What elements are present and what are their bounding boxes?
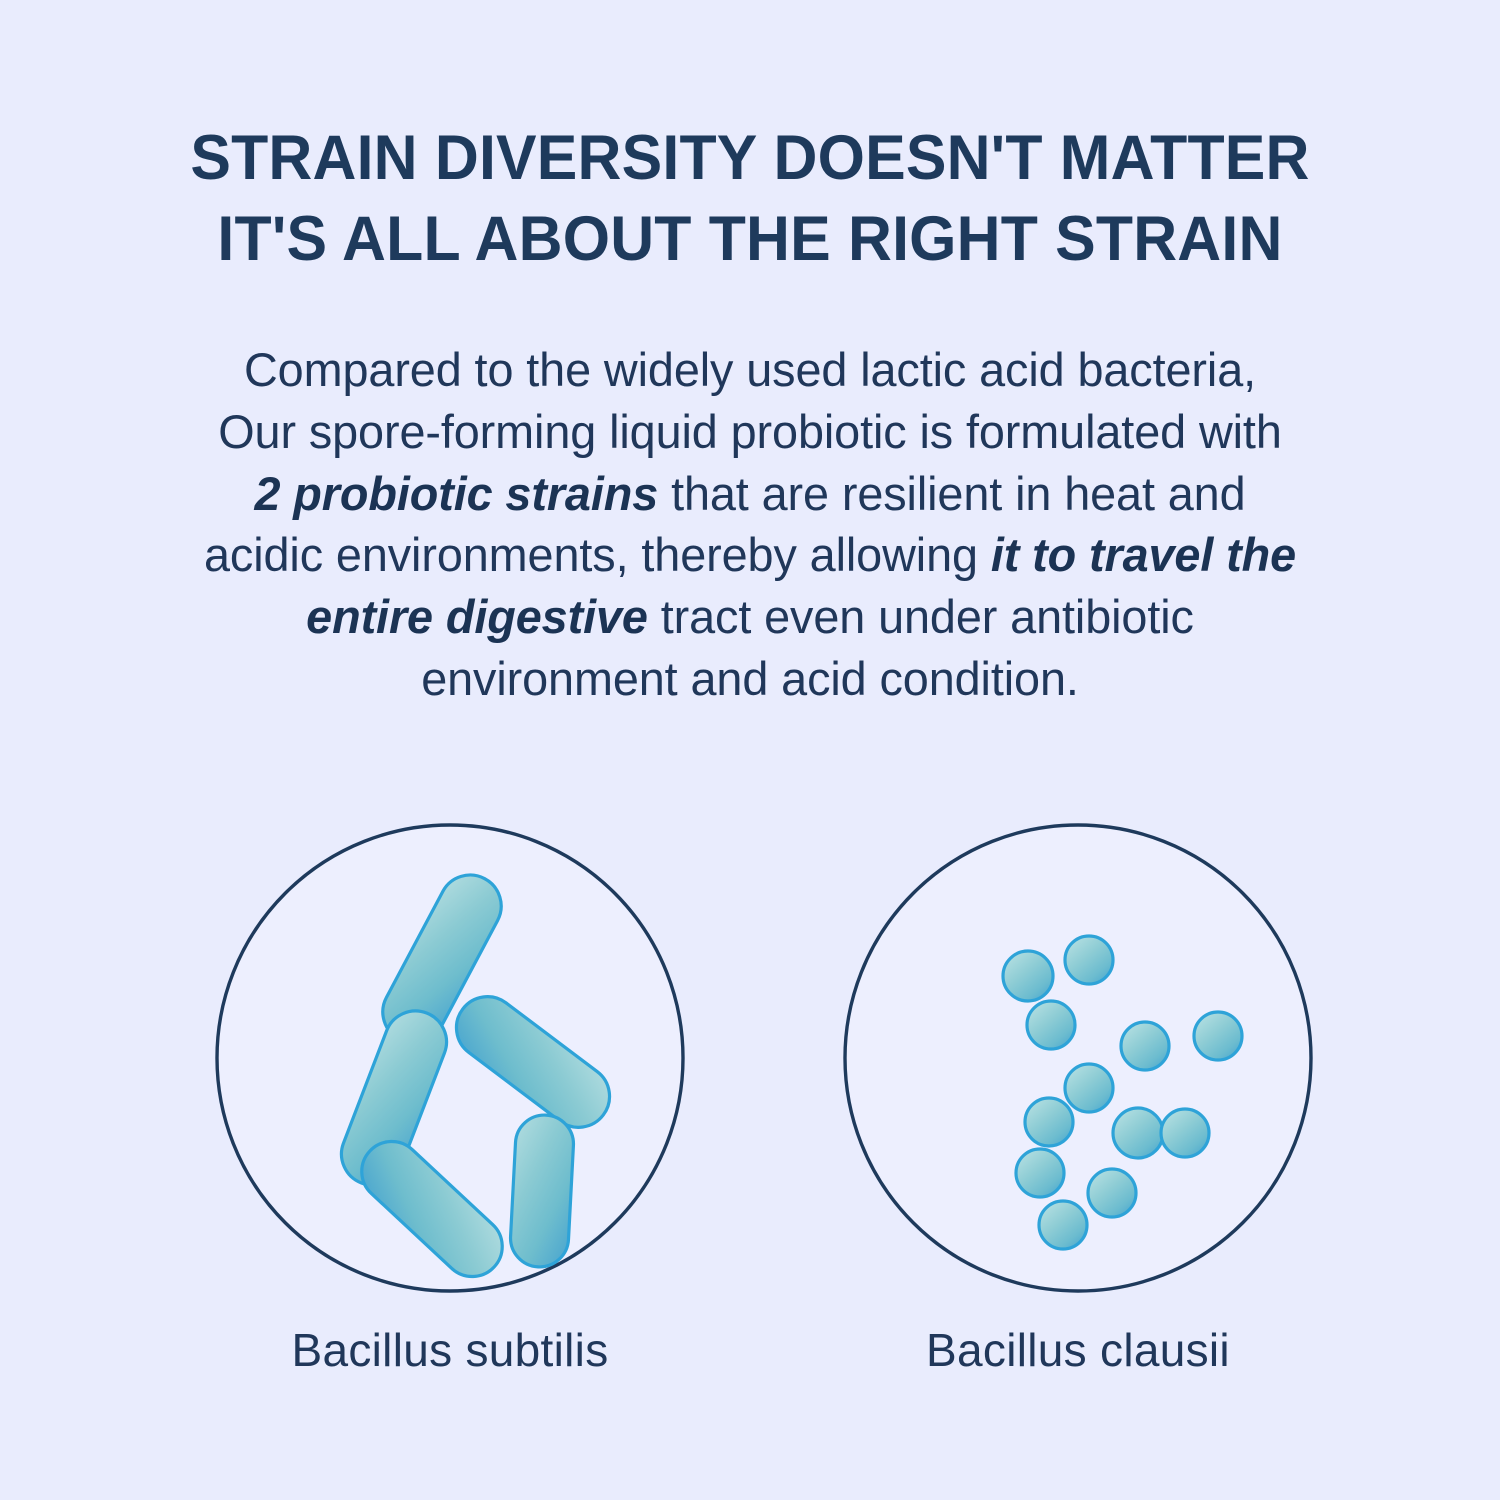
body-segment-1: Compared to the widely used lactic acid … (218, 344, 1282, 459)
coccus-cell (1113, 1108, 1163, 1158)
page-title: STRAIN DIVERSITY DOESN'T MATTER IT'S ALL… (26, 118, 1474, 279)
coccus-cell (1088, 1169, 1136, 1217)
strain-panel-bacillus-clausii: Bacillus clausii (838, 818, 1318, 1458)
rod-cell (509, 1114, 575, 1269)
coccus-cell (1065, 1064, 1113, 1112)
infographic-canvas: STRAIN DIVERSITY DOESN'T MATTER IT'S ALL… (0, 0, 1500, 1500)
strain-panels: Bacillus subtilis (0, 818, 1500, 1458)
coccus-cell (1025, 1098, 1073, 1146)
caption-bacillus-subtilis: Bacillus subtilis (210, 1323, 690, 1377)
body-emphasis-strains: 2 probiotic strains (254, 468, 658, 521)
coccus-cell (1194, 1012, 1242, 1060)
headline-line-2: IT'S ALL ABOUT THE RIGHT STRAIN (26, 199, 1474, 280)
coccus-cell (1039, 1201, 1087, 1249)
coccus-cell (1016, 1149, 1064, 1197)
coccus-cell (1161, 1109, 1209, 1157)
caption-bacillus-clausii: Bacillus clausii (838, 1323, 1318, 1377)
strain-panel-bacillus-subtilis: Bacillus subtilis (210, 818, 690, 1458)
coccus-cell (1003, 951, 1053, 1001)
coccus-cell (1027, 1001, 1075, 1049)
petri-dish-subtilis (210, 818, 690, 1298)
body-paragraph: Compared to the widely used lactic acid … (203, 340, 1296, 711)
petri-dish-clausii (838, 818, 1318, 1298)
headline-line-1: STRAIN DIVERSITY DOESN'T MATTER (26, 118, 1474, 199)
coccus-cell (1065, 936, 1113, 984)
coccus-cell (1121, 1022, 1169, 1070)
